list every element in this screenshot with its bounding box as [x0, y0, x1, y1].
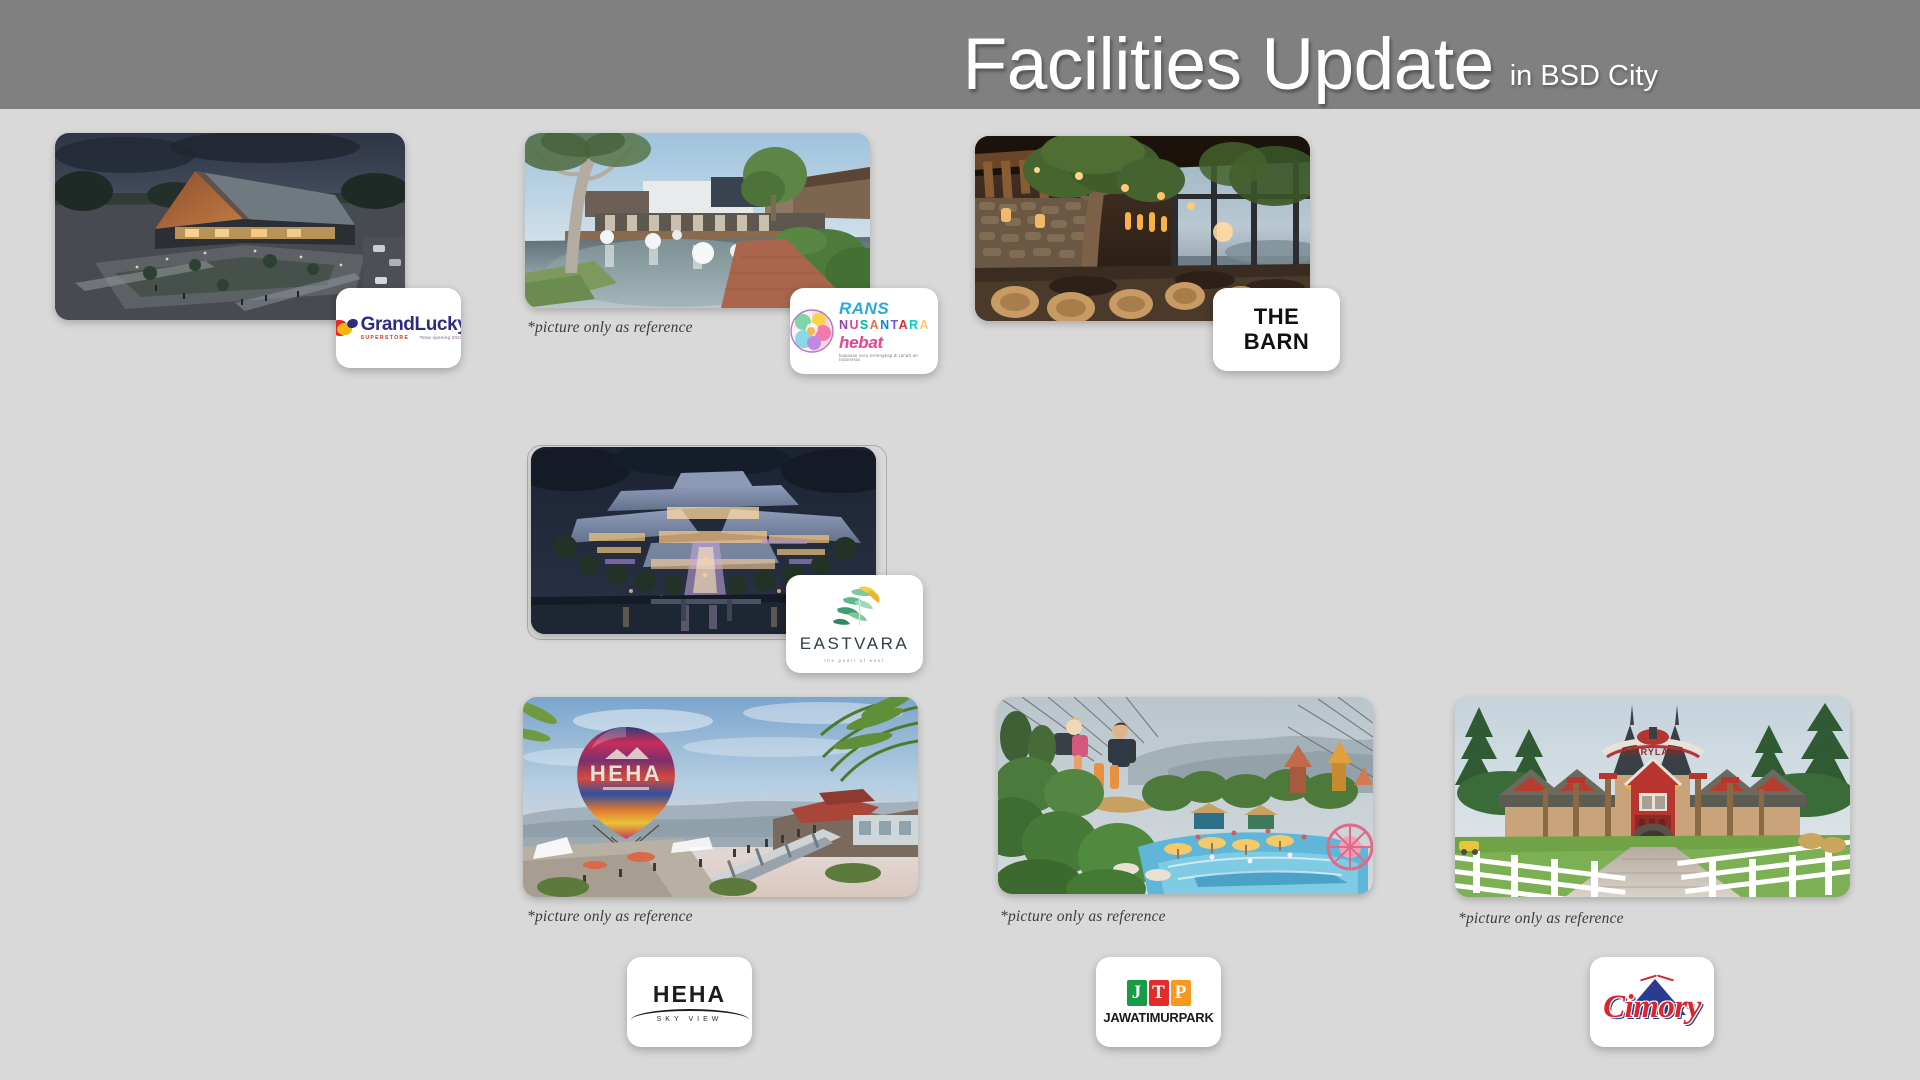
jtp-name: JAWATIMURPARK [1103, 1010, 1213, 1025]
rans-line2: NUSANTARA [839, 319, 938, 332]
photo-rans [525, 133, 870, 308]
jtp-render [998, 697, 1373, 894]
eastvara-name: EASTVARA [800, 634, 909, 654]
rans-line3: hebat [839, 334, 938, 352]
rans-line1: RANS [839, 300, 938, 318]
header-title-group: Facilities Update in BSD City [963, 28, 1658, 101]
caption-cimory: *picture only as reference [1458, 910, 1624, 928]
logo-card-cimory[interactable]: Cimory [1590, 957, 1714, 1047]
cimory-logo: Cimory [1592, 971, 1712, 1033]
grand-lucky-sub2: *Now opening 2022 [419, 336, 461, 341]
caption-rans: *picture only as reference [527, 319, 693, 337]
page-title: Facilities Update [963, 28, 1494, 101]
cimory-name: Cimory [1592, 989, 1712, 1026]
the-barn-line1: THE [1244, 305, 1310, 330]
photo-cimory: DAIRYLAND [1455, 697, 1850, 897]
slide-root: Facilities Update in BSD City [0, 0, 1920, 1080]
eastvara-leaf-icon [829, 585, 881, 629]
logo-card-heha[interactable]: HEHA SKY VIEW [627, 957, 752, 1047]
caption-heha: *picture only as reference [527, 908, 693, 926]
rans-render [525, 133, 870, 308]
logo-card-rans[interactable]: RANS NUSANTARA hebat kawasan seru terlen… [790, 288, 938, 374]
grand-lucky-mark-icon [336, 318, 357, 338]
heha-tagline: SKY VIEW [657, 1016, 723, 1023]
jtp-initial-t: T [1149, 980, 1169, 1006]
logo-card-the-barn[interactable]: THE BARN [1213, 288, 1340, 371]
jtp-initial-j: J [1127, 980, 1147, 1006]
page-subtitle: in BSD City [1510, 62, 1658, 91]
heha-logo: HEHA SKY VIEW [631, 981, 749, 1023]
rans-tagline: kawasan seru terlengkap di tanah air Ind… [839, 354, 938, 363]
jtp-initial-p: P [1171, 980, 1191, 1006]
header-band: Facilities Update in BSD City [0, 0, 1920, 109]
eastvara-logo: EASTVARA the pearl of east [800, 585, 909, 663]
heha-render: HEHA [523, 697, 918, 897]
photo-heha: HEHA [523, 697, 918, 897]
rans-logo: RANS NUSANTARA hebat kawasan seru terlen… [790, 300, 938, 363]
the-barn-logo: THE BARN [1244, 305, 1310, 354]
grand-lucky-logo: GrandLucky SUPERSTORE *Now opening 2022 [336, 315, 461, 341]
photo-jawa-timur-park [998, 697, 1373, 894]
grand-lucky-name: GrandLucky [361, 315, 461, 334]
rans-globe-icon [790, 309, 834, 353]
the-barn-line2: BARN [1244, 330, 1310, 355]
heha-name: HEHA [653, 981, 726, 1008]
jtp-logo: J T P JAWATIMURPARK [1103, 980, 1213, 1025]
eastvara-tagline: the pearl of east [824, 658, 884, 663]
caption-jawa-timur-park: *picture only as reference [1000, 908, 1166, 926]
logo-card-eastvara[interactable]: EASTVARA the pearl of east [786, 575, 923, 673]
svg-text:DAIRYLAND: DAIRYLAND [1622, 747, 1684, 757]
svg-text:HEHA: HEHA [590, 761, 662, 786]
cimory-render: DAIRYLAND [1455, 697, 1850, 897]
logo-card-jawa-timur-park[interactable]: J T P JAWATIMURPARK [1096, 957, 1221, 1047]
logo-card-grand-lucky[interactable]: GrandLucky SUPERSTORE *Now opening 2022 [336, 288, 461, 368]
cimory-bird-icon [1640, 973, 1674, 983]
grand-lucky-sub: SUPERSTORE [361, 336, 410, 341]
jtp-initials-icon: J T P [1127, 980, 1191, 1006]
